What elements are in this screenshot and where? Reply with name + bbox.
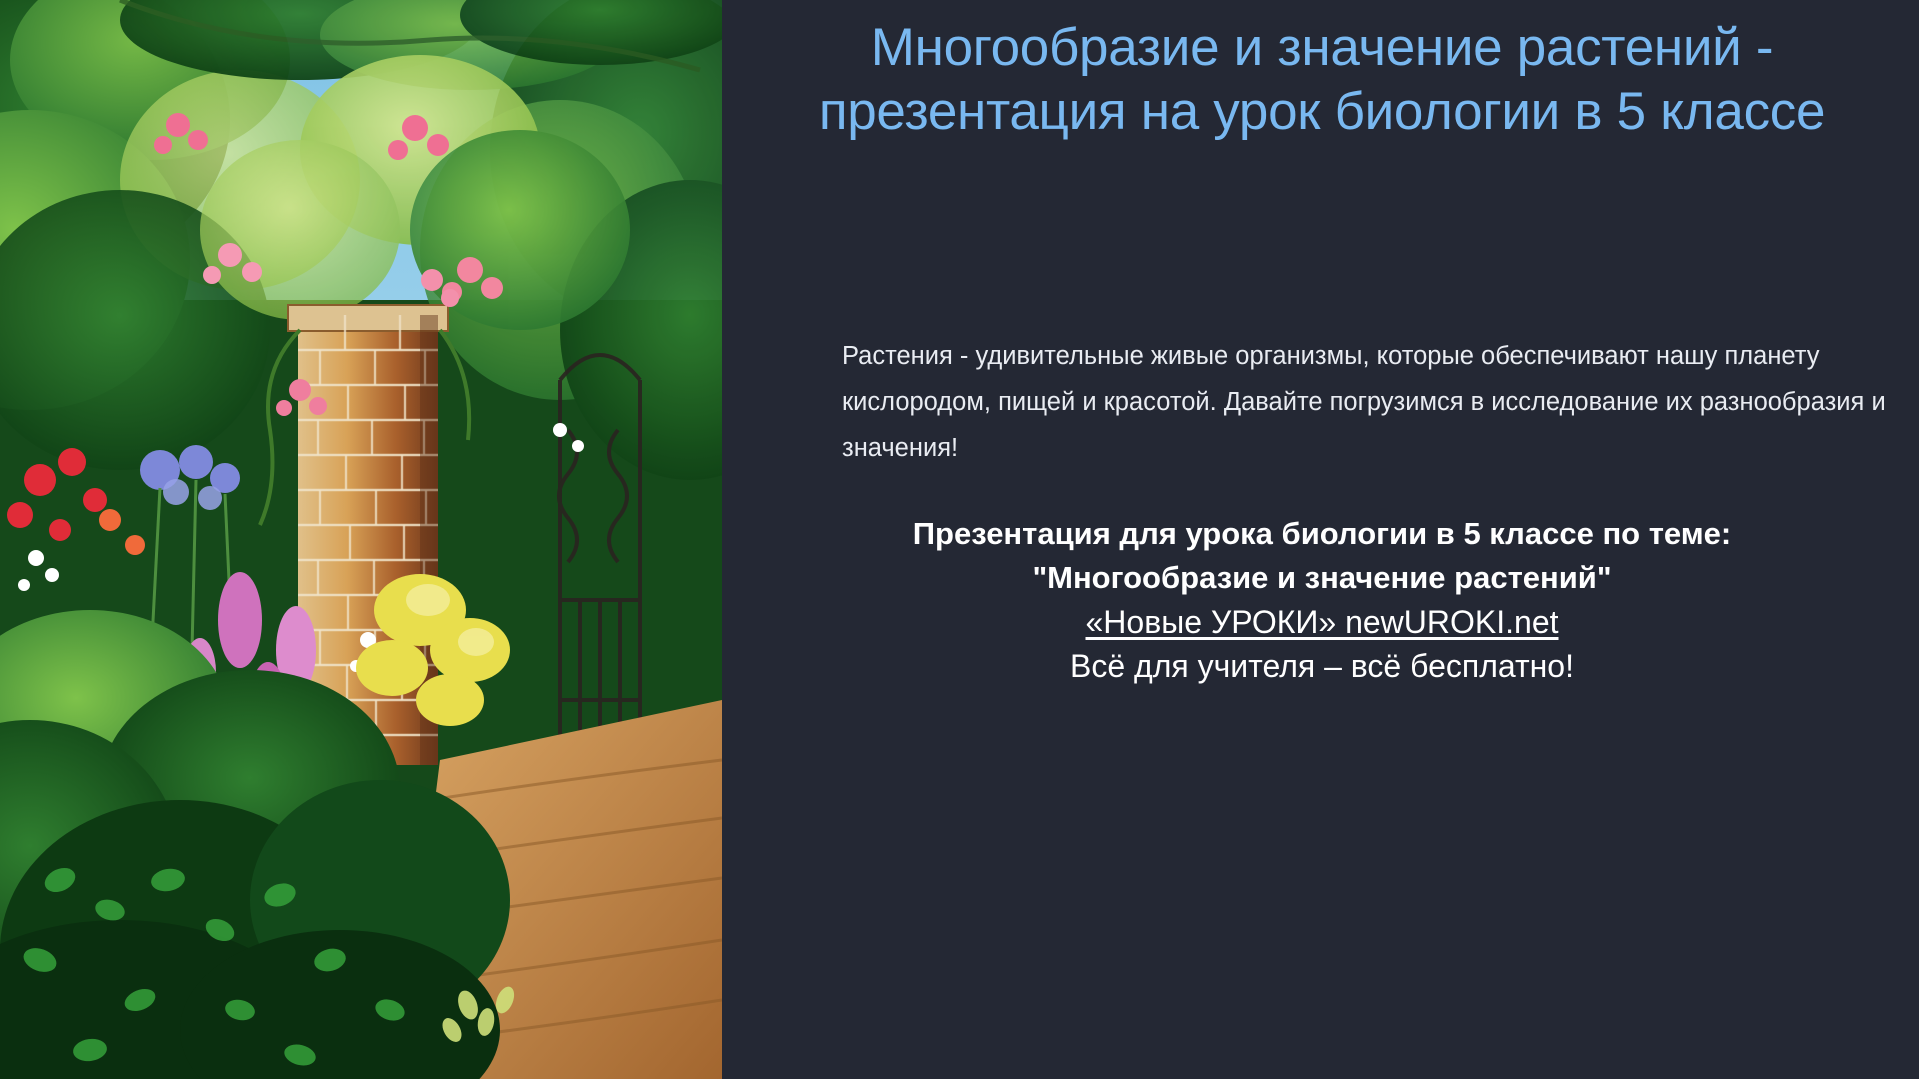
promo-site-link[interactable]: «Новые УРОКИ» newUROKI.net [752, 600, 1892, 644]
promo-line-subject: Презентация для урока биологии в 5 класс… [752, 512, 1892, 556]
slide-text-panel: Многообразие и значение растений - презе… [722, 0, 1919, 1079]
page-title: Многообразие и значение растений - презе… [747, 16, 1897, 144]
garden-painting [0, 0, 722, 1079]
promo-block: Презентация для урока биологии в 5 класс… [752, 512, 1892, 688]
presentation-slide: Многообразие и значение растений - презе… [0, 0, 1919, 1079]
promo-line-topic: "Многообразие и значение растений" [752, 556, 1892, 600]
intro-paragraph: Растения - удивительные живые организмы,… [842, 333, 1902, 471]
slide-illustration [0, 0, 722, 1079]
promo-line-tagline: Всё для учителя – всё бесплатно! [752, 644, 1892, 688]
